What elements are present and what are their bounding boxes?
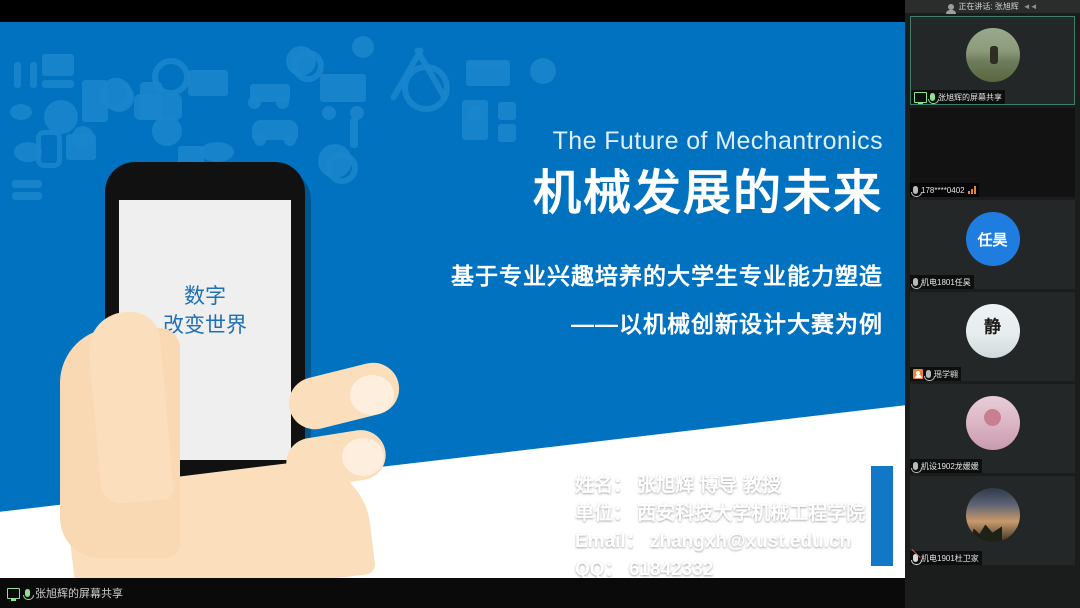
presenter-organization: 单位： 西安科技大学机械工程学院 (575, 500, 865, 528)
participant-name: 张旭辉的屏幕共享 (938, 92, 1002, 103)
presenter-email: Email： zhangxh@xust.edu.cn (575, 528, 865, 556)
shared-screen-area[interactable]: 数字 改变世界 The Future of Mechantronics (0, 0, 905, 608)
signal-strength-icon (968, 186, 976, 194)
person-icon (948, 4, 954, 10)
microphone-icon (913, 186, 918, 194)
avatar (966, 488, 1020, 542)
participant-tile-3[interactable]: 静 瑶学翱 (910, 292, 1075, 381)
slide-accent-tab (871, 466, 893, 566)
hand-holding-phone-illustration: 数字 改变世界 (60, 142, 390, 578)
chevron-collapse-icon[interactable]: ◄◄ (1023, 2, 1037, 11)
participant-name: 瑶学翱 (934, 369, 958, 380)
participant-tile-1[interactable]: 178****0402 (910, 108, 1075, 197)
avatar: 任昊 (966, 212, 1020, 266)
presenter-name: 姓名： 张旭辉 博导 教授 (575, 472, 865, 500)
participant-name: 机设1902龙媛媛 (921, 461, 979, 472)
presenter-qq: QQ： 61842332 (575, 556, 865, 578)
screen-share-icon (914, 92, 927, 103)
active-speaker-label: 正在讲话: 张旭辉 (958, 1, 1018, 12)
zoom-meeting-window: 数字 改变世界 The Future of Mechantronics (0, 0, 1080, 608)
participant-tile-4[interactable]: 机设1902龙媛媛 (910, 384, 1075, 473)
microphone-icon (913, 462, 918, 470)
participant-tile-bar: 机设1902龙媛媛 (910, 459, 982, 473)
slide-subtitle-1: 基于专业兴趣培养的大学生专业能力塑造 (363, 257, 883, 291)
participant-tile-bar: 机电1901杜卫家 (910, 551, 982, 565)
active-speaker-bar: 正在讲话: 张旭辉 ◄◄ (905, 0, 1080, 13)
participant-tile-0[interactable]: 张旭辉的屏幕共享 (910, 16, 1075, 105)
slide-english-title: The Future of Mechantronics (363, 127, 883, 156)
microphone-icon (926, 370, 931, 378)
slide-subtitle-2: ——以机械创新设计大赛为例 (363, 305, 883, 339)
screen-share-status-bar: 张旭辉的屏幕共享 (0, 578, 905, 608)
participant-tile-bar: 瑶学翱 (910, 367, 961, 381)
microphone-icon (25, 589, 30, 597)
avatar (966, 396, 1020, 450)
presentation-slide: 数字 改变世界 The Future of Mechantronics (0, 22, 905, 578)
microphone-icon (930, 93, 935, 101)
presenter-info-block: 姓名： 张旭辉 博导 教授 单位： 西安科技大学机械工程学院 Email： zh… (575, 472, 865, 578)
screen-share-icon (7, 588, 20, 599)
microphone-icon (913, 278, 918, 286)
hand-fingertip-lower (342, 438, 384, 476)
phone-text-line-1: 数字 (119, 282, 291, 311)
hand-fingertip-upper (350, 375, 394, 415)
participant-tile-bar: 机电1801任昊 (910, 275, 974, 289)
participant-video-rail[interactable]: 正在讲话: 张旭辉 ◄◄ 张旭辉的屏幕共享 178****0402 任昊 机电1… (905, 0, 1080, 608)
participant-tile-5[interactable]: 机电1901杜卫家 (910, 476, 1075, 565)
avatar (966, 28, 1020, 82)
screen-share-status-label: 张旭辉的屏幕共享 (35, 585, 123, 601)
microphone-muted-icon (913, 554, 918, 562)
participant-name: 178****0402 (921, 186, 965, 195)
avatar: 静 (966, 304, 1020, 358)
participant-name: 机电1801任昊 (921, 277, 971, 288)
participant-tile-bar: 178****0402 (910, 183, 979, 197)
participant-tile-bar: 张旭辉的屏幕共享 (911, 90, 1005, 104)
slide-chinese-title: 机械发展的未来 (363, 166, 883, 221)
slide-title-block: The Future of Mechantronics 机械发展的未来 基于专业… (363, 127, 883, 339)
host-badge-icon (913, 369, 923, 379)
participant-name: 机电1901杜卫家 (921, 553, 979, 564)
participant-tile-2[interactable]: 任昊 机电1801任昊 (910, 200, 1075, 289)
avatar-character: 静 (984, 312, 1001, 337)
